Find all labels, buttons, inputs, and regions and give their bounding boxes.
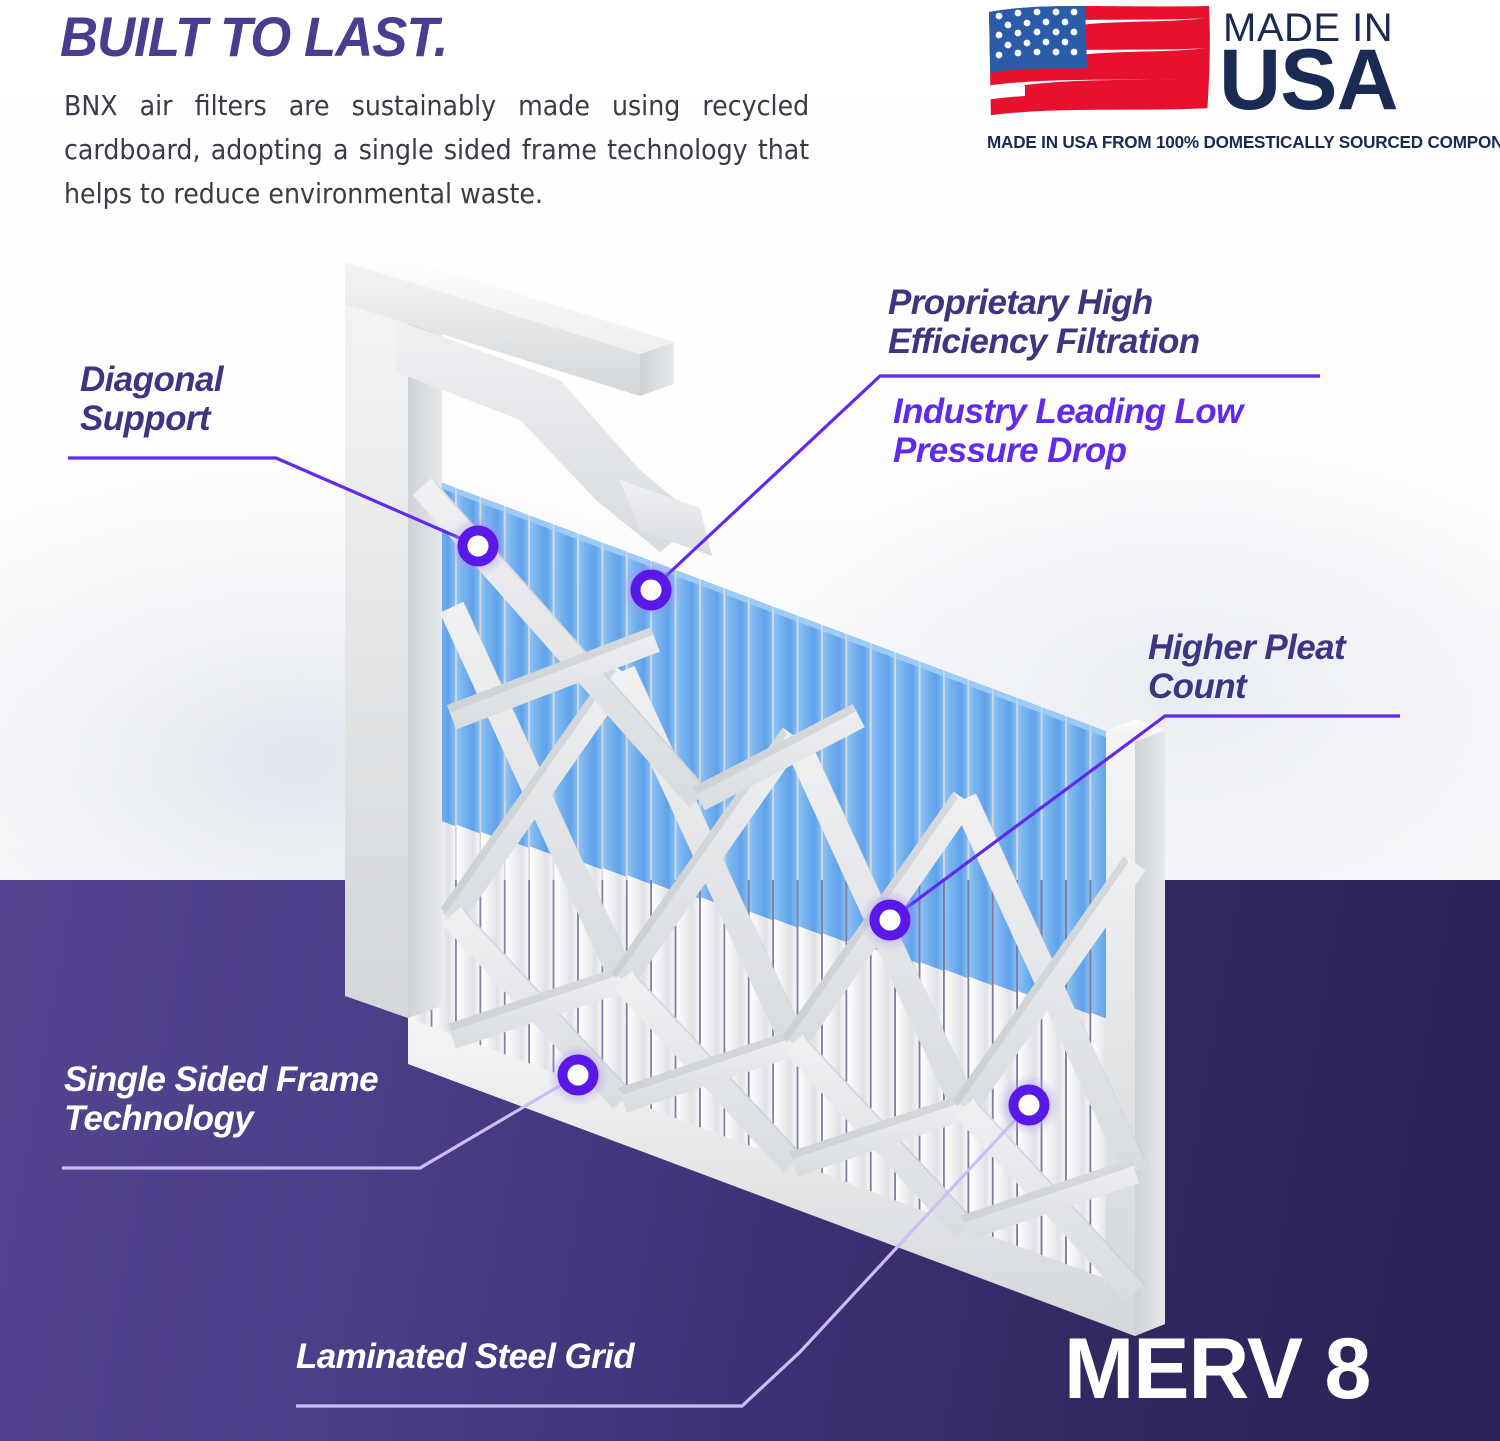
badge-tagline: MADE IN USA FROM 100% DOMESTICALLY SOURC… bbox=[987, 132, 1500, 153]
callout-line-1: Industry Leading Low bbox=[893, 392, 1243, 431]
hotspot-marker-laminated-steel-grid[interactable] bbox=[998, 1074, 1060, 1136]
hotspot-marker-diagonal-support[interactable] bbox=[447, 515, 509, 577]
merv-rating-label: MERV 8 bbox=[1064, 1320, 1370, 1419]
callout-line-2: Pressure Drop bbox=[893, 431, 1243, 470]
callout-line-2: Count bbox=[1148, 667, 1345, 706]
hotspot-markers bbox=[0, 0, 1500, 1441]
page-title: BUILT TO LAST. bbox=[60, 4, 447, 69]
page-body-copy: BNX air filters are sustainably made usi… bbox=[64, 84, 809, 216]
callout-line-1: Proprietary High bbox=[888, 283, 1200, 322]
callout-low-pressure-drop: Industry Leading Low Pressure Drop bbox=[893, 392, 1243, 470]
callout-proprietary-filtration: Proprietary High Efficiency Filtration bbox=[888, 283, 1200, 361]
callout-line-2: Efficiency Filtration bbox=[888, 322, 1200, 361]
hotspot-marker-higher-pleat-count[interactable] bbox=[859, 889, 921, 951]
callout-line-2: Support bbox=[80, 399, 223, 438]
badge-usa-label: USA bbox=[1219, 37, 1398, 123]
infographic-canvas: BUILT TO LAST. BNX air filters are susta… bbox=[0, 0, 1500, 1441]
hotspot-marker-low-pressure-drop[interactable] bbox=[620, 559, 682, 621]
callout-higher-pleat-count: Higher Pleat Count bbox=[1148, 628, 1345, 706]
callout-diagonal-support: Diagonal Support bbox=[80, 360, 223, 438]
usa-flag-icon bbox=[985, 4, 1213, 126]
callout-laminated-steel-grid: Laminated Steel Grid bbox=[296, 1337, 634, 1376]
callout-line-2: Technology bbox=[64, 1099, 378, 1138]
callout-line-1: Higher Pleat bbox=[1148, 628, 1345, 667]
callout-single-sided-frame: Single Sided Frame Technology bbox=[64, 1060, 378, 1138]
callout-line-1: Diagonal bbox=[80, 360, 223, 399]
hotspot-marker-single-sided-frame[interactable] bbox=[547, 1044, 609, 1106]
made-in-usa-badge: MADE IN USA MADE IN USA FROM 100% DOMEST… bbox=[985, 4, 1455, 154]
callout-line-1: Single Sided Frame bbox=[64, 1060, 378, 1099]
callout-line-1: Laminated Steel Grid bbox=[296, 1337, 634, 1376]
